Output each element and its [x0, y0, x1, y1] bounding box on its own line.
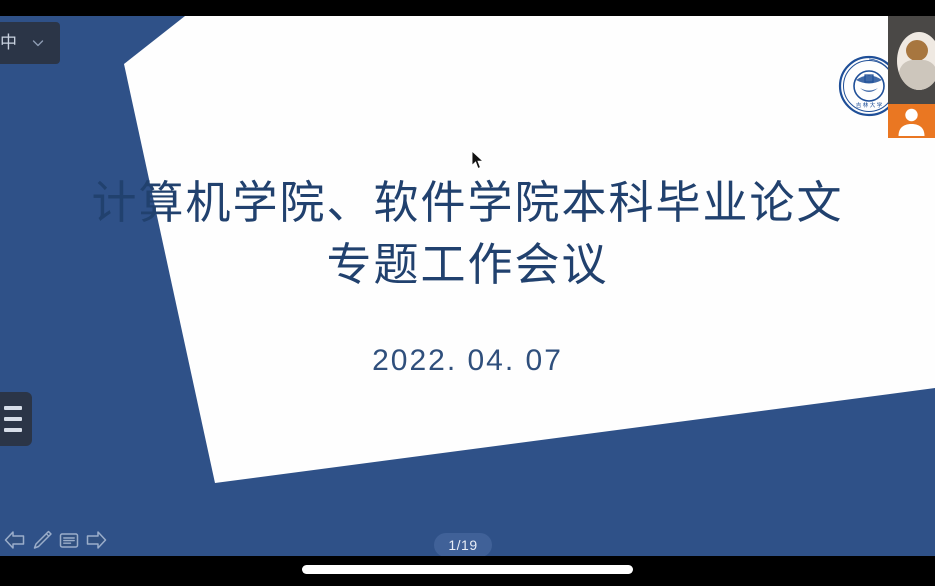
person-icon-badge[interactable] [888, 104, 935, 138]
chevron-down-icon [31, 36, 45, 50]
pen-icon[interactable] [29, 527, 55, 553]
participant-avatar [897, 32, 935, 90]
language-dropdown[interactable]: 中 [0, 22, 60, 64]
list-menu-bar [4, 428, 22, 432]
home-indicator[interactable] [302, 565, 633, 574]
slide-date: 2022. 04. 07 [0, 341, 935, 381]
mouse-cursor [471, 150, 485, 170]
notes-icon[interactable] [56, 527, 82, 553]
avatar-body [899, 60, 935, 90]
svg-text:吉 林 大 学: 吉 林 大 学 [856, 101, 883, 109]
slide-title-line-2: 专题工作会议 [0, 232, 935, 299]
slide-title-line-1: 计算机学院、软件学院本科毕业论文 [0, 170, 935, 237]
presenter-toolbar[interactable] [2, 527, 109, 553]
letterbox-top-bar [0, 0, 935, 16]
screen-root: 计算机学院、软件学院本科毕业论文 专题工作会议 2022. 04. 07 吉 林… [0, 0, 935, 586]
slide-canvas[interactable]: 计算机学院、软件学院本科毕业论文 专题工作会议 2022. 04. 07 吉 林… [0, 16, 935, 556]
avatar-head [906, 40, 928, 61]
list-menu-icon-button[interactable] [0, 392, 32, 446]
participant-video-tile[interactable] [888, 16, 935, 138]
arrow-right-icon[interactable] [83, 527, 109, 553]
list-menu-bar [4, 417, 22, 421]
arrow-left-icon[interactable] [2, 527, 28, 553]
page-indicator: 1/19 [434, 533, 492, 557]
list-menu-bar [4, 406, 22, 410]
language-dropdown-label: 中 [0, 33, 17, 53]
